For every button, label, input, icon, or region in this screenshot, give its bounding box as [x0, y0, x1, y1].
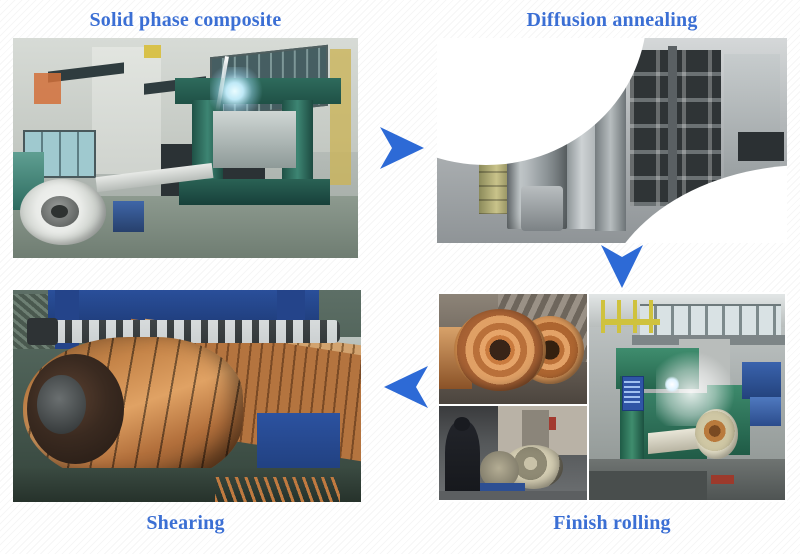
- mill-work-lamp: [665, 376, 679, 392]
- mill-hall-red-fixture: [711, 475, 735, 483]
- subphoto-copper-coils: [439, 294, 587, 404]
- slitter-circular-blades: [48, 320, 340, 343]
- hydraulic-press-bed: [179, 179, 331, 205]
- label-diffusion-annealing: Diffusion annealing: [437, 9, 787, 32]
- press-hall-sign: [34, 73, 62, 104]
- mill-hall-windows: [640, 304, 781, 337]
- label-finish-rolling: Finish rolling: [437, 512, 787, 535]
- mill-hall-floor-shadow: [589, 471, 707, 500]
- photo-finish-rolling: [437, 292, 787, 502]
- label-shearing: Shearing: [13, 512, 358, 535]
- operator-scene-floor: [439, 491, 587, 500]
- subphoto-rolling-mill: [589, 294, 785, 500]
- operator-figure: [445, 421, 481, 500]
- label-solid-phase-composite: Solid phase composite: [13, 9, 358, 32]
- operator-scene-red-marker: [549, 417, 556, 430]
- photo-solid-phase-composite: [13, 38, 358, 258]
- press-hall-blue-drum: [113, 201, 144, 232]
- copper-scrap-trim: [215, 477, 340, 502]
- slitter-arbor-end: [27, 318, 58, 346]
- subphoto-operator-coil: [439, 406, 587, 500]
- mill-hall-yellow-platform-rail: [601, 300, 660, 333]
- arrow-right-icon: [378, 123, 426, 173]
- press-hall-column-right: [330, 49, 351, 185]
- mill-hall-blue-equipment-lower: [750, 397, 781, 426]
- coil-mandrel-chuck: [37, 375, 86, 434]
- press-hall-crane-marker: [144, 45, 161, 58]
- copper-coil-front: [454, 309, 546, 390]
- hydraulic-press-ram: [213, 111, 296, 168]
- rolled-coil: [695, 409, 738, 458]
- mill-hall-yellow-walkway: [601, 319, 660, 325]
- annealing-shop-opening: [738, 132, 784, 161]
- arrow-left-icon: [382, 362, 430, 412]
- furnace-base-drum: [521, 186, 563, 231]
- mill-hall-blue-equipment: [742, 362, 781, 399]
- mill-control-panel-buttons: [624, 381, 640, 406]
- photo-shearing: [13, 290, 361, 502]
- annealing-shop-post: [668, 46, 677, 214]
- photo-diffusion-annealing: [437, 38, 787, 243]
- arrow-down-icon: [598, 243, 646, 291]
